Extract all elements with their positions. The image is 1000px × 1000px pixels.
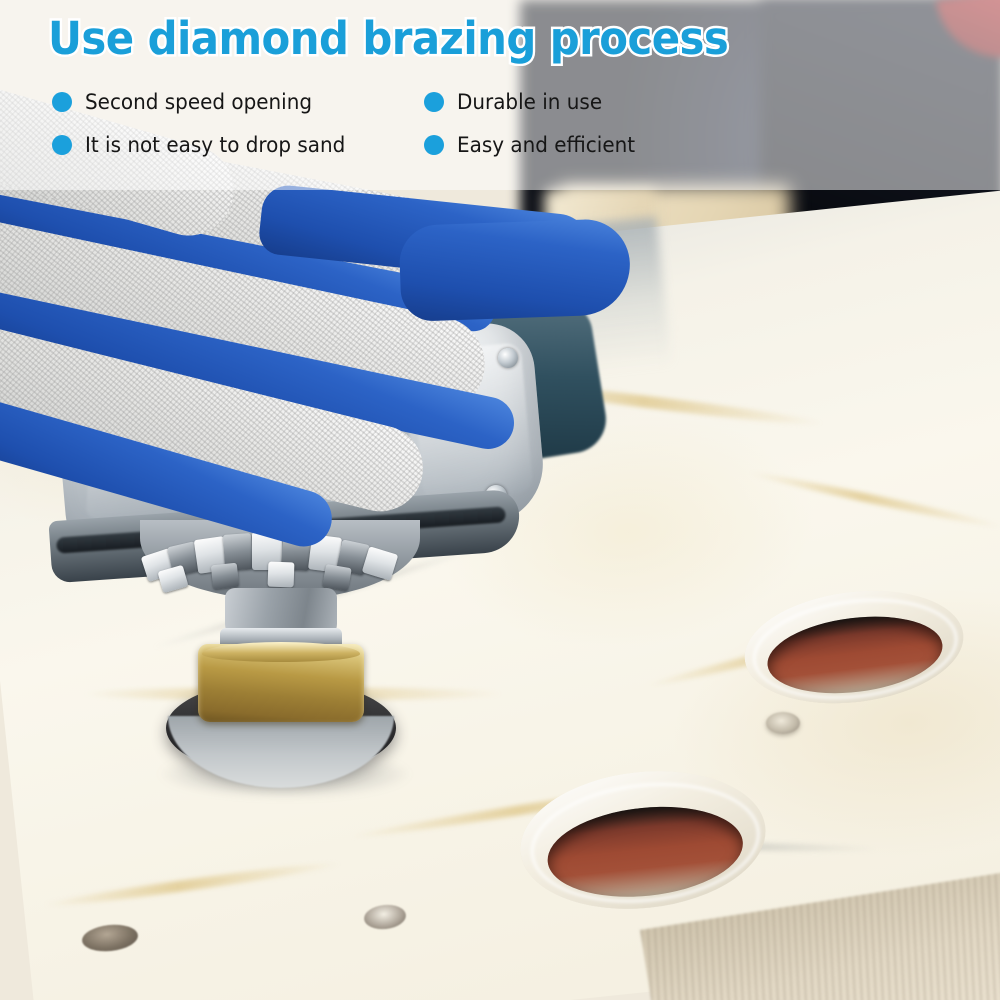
feature-label: Easy and efficient [457,133,635,157]
feature-item-3: Easy and efficient [424,133,644,157]
feature-label: Second speed opening [85,90,312,114]
bullet-icon [52,92,72,112]
feature-label: It is not easy to drop sand [85,133,345,157]
bullet-icon [52,135,72,155]
bullet-icon [424,135,444,155]
page-title: Use diamond brazing process [48,13,728,65]
feature-item-1: It is not easy to drop sand [52,133,359,157]
header: Use diamond brazing process Second speed… [0,0,1000,190]
pilot-mark-center [766,712,800,734]
feature-item-2: Durable in use [424,90,610,114]
feature-item-0: Second speed opening [52,90,324,114]
bullet-icon [424,92,444,112]
work-glove [0,170,690,590]
brass-collar-top-face [202,642,360,662]
feature-label: Durable in use [457,90,602,114]
product-feature-banner: Use diamond brazing process Second speed… [0,0,1000,1000]
